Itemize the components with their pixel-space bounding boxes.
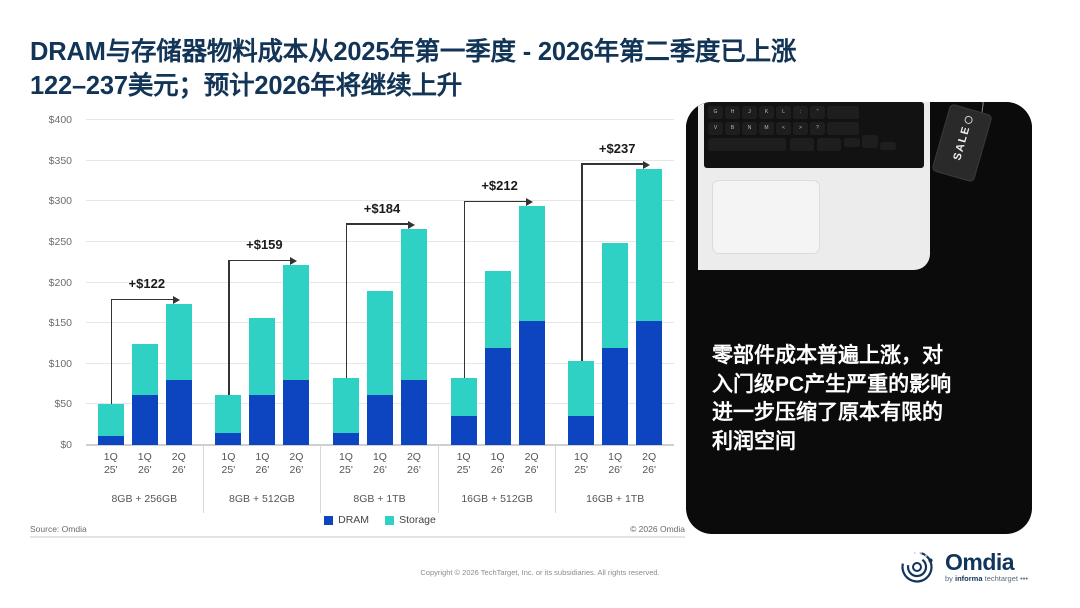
chart-bar	[367, 291, 393, 445]
sale-tag-label: SALE	[951, 124, 972, 162]
bar-segment-dram	[401, 380, 427, 445]
y-axis-tick-label: $250	[12, 236, 72, 248]
keyboard-key: B	[725, 122, 740, 135]
x-axis-tick-row: 1Q25'1Q26'2Q26'	[321, 451, 438, 481]
delta-bracket-arrowhead	[643, 161, 650, 169]
chart-bar	[333, 378, 359, 445]
delta-bracket-arrowhead	[173, 296, 180, 304]
y-axis-tick-label: $100	[12, 358, 72, 370]
chart-gridline	[86, 119, 674, 120]
x-axis-category-label: 8GB + 512GB	[204, 493, 321, 505]
bar-segment-storage	[249, 318, 275, 394]
insight-line-3: 进一步压缩了原本有限的	[712, 399, 1014, 428]
chart-panel: $0$50$100$150$200$250$300$350$400+$122+$…	[24, 108, 684, 538]
keyboard-key: K	[759, 106, 774, 119]
insight-card-text: 零部件成本普遍上涨，对 入门级PC产生严重的影响 进一步压缩了原本有限的 利润空…	[712, 342, 1014, 456]
keyboard-key: L	[776, 106, 791, 119]
bar-segment-dram	[333, 433, 359, 445]
keyboard-key	[827, 106, 859, 119]
page-title-line-2: 122–237美元；预计2026年将继续上升	[30, 70, 1040, 104]
keyboard-key	[862, 135, 878, 148]
bar-segment-dram	[283, 380, 309, 445]
bar-segment-storage	[283, 265, 309, 380]
chart-source-row: Source: Omdia © 2026 Omdia	[30, 524, 685, 538]
omdia-tagline: by informa techtarget •••	[945, 575, 1028, 583]
x-axis-category-label: 16GB + 512GB	[439, 493, 556, 505]
delta-bracket-arm	[464, 201, 527, 202]
tagline-suffix: techtarget	[983, 574, 1018, 583]
bar-segment-storage	[602, 243, 628, 348]
x-axis-group: 1Q25'1Q26'2Q26'16GB + 512GB	[439, 446, 557, 513]
keyboard-key: G	[708, 106, 723, 119]
chart-bar	[485, 271, 511, 445]
keyboard-key: H	[725, 106, 740, 119]
x-axis-category-label: 16GB + 1TB	[556, 493, 674, 505]
delta-bracket-stem	[228, 261, 229, 394]
x-axis-tick-label: 2Q26'	[517, 451, 547, 477]
chart-gridline	[86, 241, 674, 242]
bar-segment-dram	[98, 436, 124, 445]
x-axis-tick-label: 1Q26'	[247, 451, 277, 477]
bar-segment-storage	[333, 378, 359, 432]
tag-hole-icon	[964, 115, 974, 125]
x-axis-tick-label: 1Q25'	[331, 451, 361, 477]
y-axis-tick-label: $200	[12, 277, 72, 289]
y-axis-tick-label: $350	[12, 155, 72, 167]
chart-bar	[166, 304, 192, 445]
x-axis-group: 1Q25'1Q26'2Q26'8GB + 1TB	[321, 446, 439, 513]
keyboard-key	[708, 138, 786, 151]
chart-bar	[401, 229, 427, 445]
laptop-body: GHJKL:"VBNM<>?	[698, 102, 930, 270]
tagline-brand: informa	[955, 574, 983, 583]
delta-annotation-label: +$184	[364, 201, 401, 216]
delta-annotation-label: +$159	[246, 237, 283, 252]
bar-segment-storage	[519, 206, 545, 321]
delta-bracket-arrowhead	[290, 257, 297, 265]
chart-plot-area: $0$50$100$150$200$250$300$350$400+$122+$…	[86, 120, 674, 445]
x-axis-tick-label: 1Q25'	[96, 451, 126, 477]
chart-bar	[602, 243, 628, 445]
bar-segment-storage	[367, 291, 393, 395]
keyboard-key: N	[742, 122, 757, 135]
bar-segment-dram	[602, 348, 628, 446]
omdia-logo: Omdia by informa techtarget •••	[900, 548, 1028, 586]
bar-segment-storage	[401, 229, 427, 380]
x-axis-tick-label: 1Q25'	[213, 451, 243, 477]
bar-segment-dram	[451, 416, 477, 445]
bar-segment-dram	[132, 395, 158, 445]
chart-bar	[132, 344, 158, 445]
bar-segment-storage	[132, 344, 158, 394]
x-axis-group: 1Q25'1Q26'2Q26'16GB + 1TB	[556, 446, 674, 513]
chart-bar	[568, 361, 594, 445]
bar-segment-storage	[568, 361, 594, 415]
keyboard-key: ?	[810, 122, 825, 135]
chart-bar	[519, 206, 545, 445]
keyboard-key: <	[776, 122, 791, 135]
x-axis-group: 1Q25'1Q26'2Q26'8GB + 512GB	[204, 446, 322, 513]
x-axis-tick-row: 1Q25'1Q26'2Q26'	[556, 451, 674, 481]
bar-segment-dram	[367, 395, 393, 445]
delta-bracket-arrowhead	[526, 198, 533, 206]
x-axis-tick-row: 1Q25'1Q26'2Q26'	[204, 451, 321, 481]
slide-root: DRAM与存储器物料成本从2025年第一季度 - 2026年第二季度已上涨 12…	[0, 0, 1080, 608]
laptop-photo: GHJKL:"VBNM<>? SALE	[686, 102, 1032, 274]
x-axis-tick-label: 2Q26'	[634, 451, 664, 477]
x-axis-tick-label: 1Q26'	[483, 451, 513, 477]
insight-line-4: 利润空间	[712, 428, 1014, 457]
page-title-line-1: DRAM与存储器物料成本从2025年第一季度 - 2026年第二季度已上涨	[30, 36, 1040, 70]
bar-segment-dram	[166, 380, 192, 445]
source-label: Source: Omdia	[30, 524, 87, 534]
x-axis-tick-row: 1Q25'1Q26'2Q26'	[439, 451, 556, 481]
keyboard-key	[844, 138, 860, 147]
bar-segment-dram	[568, 416, 594, 445]
trackpad	[712, 180, 820, 254]
chart-bar	[249, 318, 275, 445]
bar-segment-dram	[636, 321, 662, 445]
bar-segment-dram	[215, 433, 241, 445]
delta-bracket-arm	[346, 223, 409, 224]
bar-segment-storage	[166, 304, 192, 380]
bar-segment-storage	[98, 404, 124, 437]
delta-bracket-arrowhead	[408, 221, 415, 229]
delta-bracket-stem	[464, 202, 465, 378]
keyboard-key	[817, 138, 841, 151]
delta-bracket-arm	[111, 299, 174, 300]
x-axis-tick-label: 1Q25'	[449, 451, 479, 477]
insight-card: GHJKL:"VBNM<>? SALE 零部件成本普遍上涨，对 入门级PC产生严…	[686, 102, 1032, 534]
bar-segment-storage	[215, 395, 241, 433]
y-axis-tick-label: $0	[12, 439, 72, 451]
delta-annotation-label: +$237	[599, 141, 636, 156]
bar-segment-dram	[249, 395, 275, 445]
bar-segment-dram	[485, 348, 511, 446]
omdia-logo-icon	[900, 548, 938, 586]
chart-bar	[215, 395, 241, 445]
keyboard-key	[790, 138, 814, 151]
bar-segment-storage	[636, 169, 662, 321]
y-axis-tick-label: $150	[12, 317, 72, 329]
delta-bracket-stem	[111, 300, 112, 403]
sale-tag: SALE	[931, 103, 993, 182]
chart-bar	[283, 265, 309, 445]
keyboard-key	[880, 142, 896, 150]
chart-bar	[636, 169, 662, 445]
insight-line-2: 入门级PC产生严重的影响	[712, 371, 1014, 400]
chart-copyright: © 2026 Omdia	[630, 524, 685, 534]
keyboard-key: :	[793, 106, 808, 119]
tagline-dots-icon: •••	[1020, 574, 1028, 583]
tagline-prefix: by	[945, 574, 955, 583]
bar-segment-storage	[451, 378, 477, 415]
delta-annotation-label: +$122	[129, 276, 166, 291]
keyboard-key	[827, 122, 859, 135]
y-axis-tick-label: $400	[12, 114, 72, 126]
x-axis-tick-label: 1Q26'	[600, 451, 630, 477]
page-title: DRAM与存储器物料成本从2025年第一季度 - 2026年第二季度已上涨 12…	[30, 36, 1040, 103]
delta-bracket-stem	[346, 225, 347, 379]
keyboard-key: >	[793, 122, 808, 135]
x-axis-group: 1Q25'1Q26'2Q26'8GB + 256GB	[86, 446, 204, 513]
chart-x-axis: 1Q25'1Q26'2Q26'8GB + 256GB1Q25'1Q26'2Q26…	[86, 445, 674, 513]
x-axis-tick-label: 2Q26'	[399, 451, 429, 477]
bar-segment-storage	[485, 271, 511, 347]
x-axis-tick-row: 1Q25'1Q26'2Q26'	[86, 451, 203, 481]
x-axis-category-label: 8GB + 1TB	[321, 493, 438, 505]
delta-bracket-arm	[228, 260, 291, 261]
delta-annotation-label: +$212	[481, 178, 518, 193]
delta-bracket-stem	[581, 165, 582, 362]
omdia-logo-text: Omdia by informa techtarget •••	[945, 551, 1028, 583]
x-axis-category-label: 8GB + 256GB	[86, 493, 203, 505]
chart-gridline	[86, 282, 674, 283]
bar-segment-dram	[519, 321, 545, 445]
delta-bracket-arm	[581, 163, 644, 164]
x-axis-tick-label: 2Q26'	[164, 451, 194, 477]
x-axis-tick-label: 2Q26'	[281, 451, 311, 477]
keyboard-key: M	[759, 122, 774, 135]
y-axis-tick-label: $50	[12, 398, 72, 410]
x-axis-tick-label: 1Q25'	[566, 451, 596, 477]
keyboard: GHJKL:"VBNM<>?	[704, 102, 924, 168]
omdia-wordmark: Omdia	[945, 551, 1028, 574]
chart-gridline	[86, 160, 674, 161]
chart-bar	[98, 404, 124, 445]
keyboard-key: V	[708, 122, 723, 135]
keyboard-key: "	[810, 106, 825, 119]
insight-line-1: 零部件成本普遍上涨，对	[712, 342, 1014, 371]
x-axis-tick-label: 1Q26'	[365, 451, 395, 477]
chart-bar	[451, 378, 477, 445]
y-axis-tick-label: $300	[12, 195, 72, 207]
keyboard-key: J	[742, 106, 757, 119]
x-axis-tick-label: 1Q26'	[130, 451, 160, 477]
